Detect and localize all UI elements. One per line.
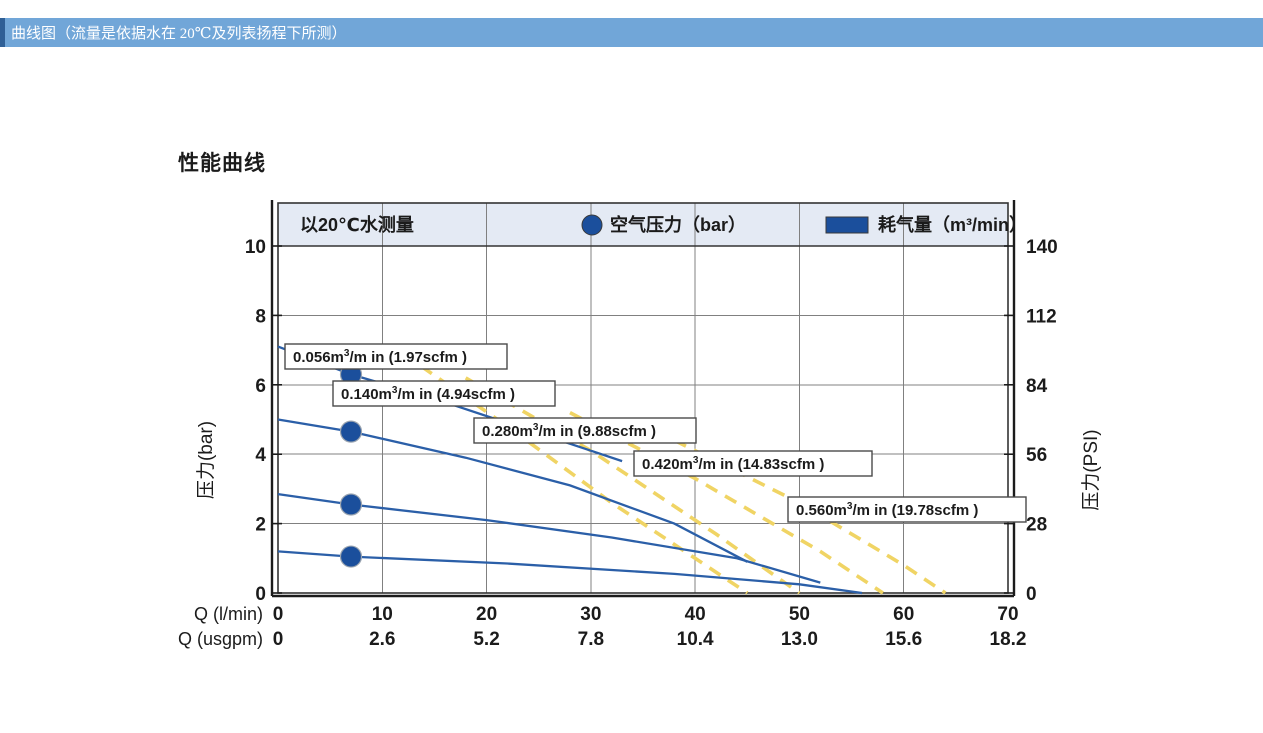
x-axis-tick-usgpm: 10.4 [677,629,714,650]
left-axis-tick: 6 [255,376,266,397]
performance-curve-chart: 0246810 0285684112140 01020304050607002.… [0,0,1263,733]
right-axis-tick-labels: 0285684112140 [1004,237,1058,605]
data-point-marker [341,494,362,515]
data-point-marker [341,421,362,442]
x-axis-tick-lmin: 30 [580,604,601,625]
right-axis-tick: 56 [1026,445,1047,466]
left-axis-tick: 10 [245,237,266,258]
right-axis-tick: 28 [1026,515,1047,536]
chart-svg: 0246810 0285684112140 01020304050607002.… [0,0,1263,733]
left-axis-tick: 4 [255,445,266,466]
x-axis-tick-usgpm: 2.6 [369,629,395,650]
legend-note: 以20℃水测量 [300,214,414,235]
right-axis-tick: 84 [1026,376,1048,397]
x-axis-row2-label: Q (usgpm) [178,629,263,649]
left-axis-tick: 2 [255,515,266,536]
left-axis-title: 压力(bar) [195,421,217,499]
x-axis-tick-usgpm: 15.6 [885,629,922,650]
x-axis-tick-lmin: 20 [476,604,497,625]
chart-legend: 以20℃水测量 空气压力（bar） 耗气量（m³/min） [300,214,1027,235]
callout-text: 0.420m3/m in (14.83scfm ) [642,455,824,473]
left-axis-tick-labels: 0246810 [245,237,282,605]
x-axis-tick-lmin: 60 [893,604,914,625]
x-axis-tick-labels: 01020304050607002.65.27.810.413.015.618.… [273,604,1027,650]
legend-series2-label: 耗气量（m³/min） [878,214,1027,235]
callout-text: 0.560m3/m in (19.78scfm ) [796,501,978,519]
x-axis-tick-lmin: 50 [789,604,810,625]
right-axis-tick: 112 [1026,306,1057,327]
right-axis-title: 压力(PSI) [1080,429,1102,510]
x-axis-tick-usgpm: 18.2 [990,629,1027,650]
right-axis-tick: 0 [1026,584,1037,605]
right-axis-tick: 140 [1026,237,1058,258]
callout-text: 0.140m3/m in (4.94scfm ) [341,385,515,403]
circle-marker-icon [582,215,602,235]
callout-text: 0.280m3/m in (9.88scfm ) [482,422,656,440]
x-axis-tick-lmin: 0 [273,604,284,625]
x-axis-tick-lmin: 70 [997,604,1018,625]
data-point-marker [341,546,362,567]
x-axis-tick-usgpm: 13.0 [781,629,818,650]
callout-text: 0.056m3/m in (1.97scfm ) [293,348,467,366]
x-axis-row1-label: Q (l/min) [194,604,263,624]
left-axis-tick: 8 [255,306,266,327]
bar-swatch-icon [826,217,868,233]
x-axis-tick-usgpm: 5.2 [473,629,499,650]
left-axis-tick: 0 [255,584,266,605]
legend-series1-label: 空气压力（bar） [610,214,746,235]
x-axis-tick-lmin: 40 [685,604,706,625]
x-axis-tick-usgpm: 0 [273,629,284,650]
x-axis-tick-usgpm: 7.8 [578,629,604,650]
x-axis-tick-lmin: 10 [372,604,393,625]
